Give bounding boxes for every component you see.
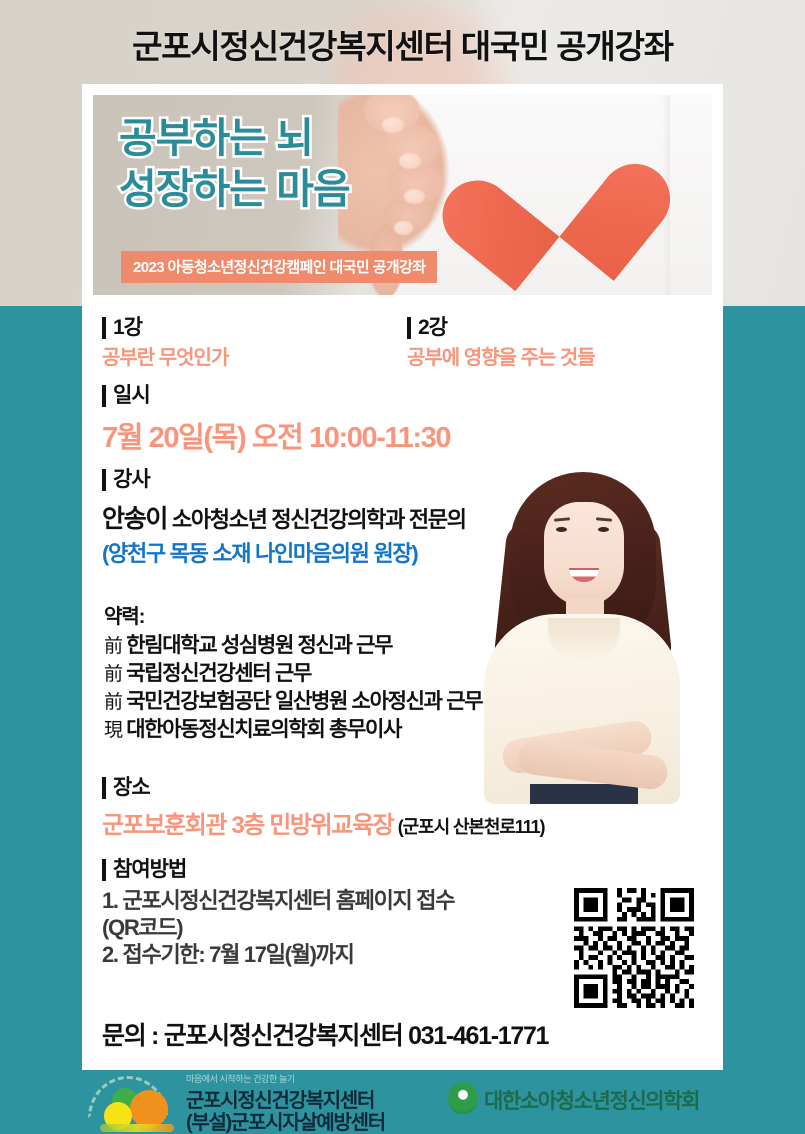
instructor-block: 강사 안송이 소아청소년 정신건강의학과 전문의 (양천구 목동 소재 나인마음…: [102, 468, 522, 568]
hero-nail-1: [382, 117, 404, 133]
join-item: (QR코드): [102, 915, 582, 942]
career-item: 前 한림대학교 성심병원 정신과 근무: [104, 632, 524, 660]
career-prefix: 前: [104, 664, 122, 685]
instructor-name-row: 안송이 소아청소년 정신건강의학과 전문의: [102, 499, 522, 535]
lecture-1: 1강 공부란 무엇인가: [102, 316, 407, 370]
hero-ribbon: 2023 아동청소년정신건강캠페인 대국민 공개강좌: [121, 251, 437, 283]
kacap-logo-icon: [448, 1082, 478, 1114]
date-value: 7월 20일(목) 오전 10:00-11:30: [102, 414, 450, 456]
join-item: 1. 군포시정신건강복지센터 홈페이지 접수: [102, 888, 582, 915]
logo-kacap: 대한소아청소년정신의학회: [448, 1082, 748, 1122]
career-item: 前 국립정신건강센터 근무: [104, 660, 524, 688]
hero-headline: 공부하는 뇌 성장하는 마음: [119, 113, 350, 215]
career-text: 국립정신건강센터 근무: [126, 662, 311, 685]
career-block: 약력: 前 한림대학교 성심병원 정신과 근무 前 국립정신건강센터 근무 前 …: [104, 600, 524, 745]
logo-right-name: 대한소아청소년정신의학회: [484, 1085, 699, 1115]
career-item: 現 대한아동정신치료의학회 총무이사: [104, 716, 524, 744]
lecture-1-label: 1강: [102, 316, 407, 340]
hero-headline-line2: 성장하는 마음: [119, 164, 350, 215]
career-prefix: 前: [104, 692, 122, 713]
hero-nail-4: [394, 221, 413, 235]
footer: 마음에서 시작하는 건강한 늘기 군포시정신건강복지센터 (부설)군포시자살예방…: [0, 1070, 805, 1134]
qr-code-icon: [574, 888, 694, 1008]
logo-gunpo-center: 마음에서 시작하는 건강한 늘기 군포시정신건강복지센터 (부설)군포시자살예방…: [82, 1072, 412, 1130]
hero-nail-2: [399, 153, 421, 169]
career-text: 한림대학교 성심병원 정신과 근무: [126, 634, 392, 657]
hero-banner: 공부하는 뇌 성장하는 마음 2023 아동청소년정신건강캠페인 대국민 공개강…: [93, 95, 712, 295]
career-list: 前 한림대학교 성심병원 정신과 근무 前 국립정신건강센터 근무 前 국민건강…: [104, 632, 524, 745]
instructor-label: 강사: [102, 468, 522, 492]
heart-shape-icon: [478, 118, 632, 272]
career-item: 前 국민건강보험공단 일산병원 소아정신과 근무: [104, 688, 524, 716]
date-label: 일시: [102, 384, 450, 408]
join-label: 참여방법: [102, 858, 582, 882]
career-text: 국민건강보험공단 일산병원 소아정신과 근무: [126, 690, 482, 713]
logo-left-line2: (부설)군포시자살예방센터: [186, 1106, 385, 1134]
contact-line: 문의 : 군포시정신건강복지센터 031-461-1771: [102, 1016, 548, 1052]
instructor-role: 소아청소년 정신건강의학과 전문의: [172, 507, 466, 532]
career-prefix: 前: [104, 636, 122, 657]
place-block: 장소 군포보훈회관 3층 민방위교육장 (군포시 산본천로111): [102, 776, 712, 840]
lecture-2: 2강 공부에 영향을 주는 것들: [407, 316, 712, 370]
place-venue: 군포보훈회관 3층 민방위교육장: [102, 812, 393, 839]
career-text: 대한아동정신치료의학회 총무이사: [126, 718, 401, 741]
career-prefix: 現: [104, 720, 122, 741]
join-list: 1. 군포시정신건강복지센터 홈페이지 접수 (QR코드) 2. 접수기한: 7…: [102, 888, 582, 968]
instructor-affiliation: (양천구 목동 소재 나인마음의원 원장): [102, 536, 522, 568]
hero-nail-3: [404, 189, 425, 204]
lectures-row: 1강 공부란 무엇인가 2강 공부에 영향을 주는 것들: [102, 316, 712, 370]
lecture-2-label: 2강: [407, 316, 712, 340]
lecture-2-title: 공부에 영향을 주는 것들: [407, 341, 712, 370]
content-card: 1강 공부란 무엇인가 2강 공부에 영향을 주는 것들 일시 7월 20일(목…: [82, 306, 723, 1070]
date-block: 일시 7월 20일(목) 오전 10:00-11:30: [102, 384, 450, 456]
place-address: (군포시 산본천로111): [398, 817, 545, 837]
lecture-1-title: 공부란 무엇인가: [102, 341, 407, 370]
career-label: 약력:: [104, 600, 524, 629]
page-title: 군포시정신건강복지센터 대국민 공개강좌: [0, 20, 805, 68]
join-item: 2. 접수기한: 7월 17일(월)까지: [102, 942, 582, 969]
instructor-name: 안송이: [102, 505, 167, 533]
qr-code[interactable]: [574, 888, 694, 1008]
place-value-row: 군포보훈회관 3층 민방위교육장 (군포시 산본천로111): [102, 805, 712, 840]
place-label: 장소: [102, 776, 712, 800]
join-block: 참여방법 1. 군포시정신건강복지센터 홈페이지 접수 (QR코드) 2. 접수…: [102, 858, 582, 969]
gunpo-logo-icon: [82, 1076, 178, 1126]
hero-headline-line1: 공부하는 뇌: [119, 115, 313, 161]
poster-root: 군포시정신건강복지센터 대국민 공개강좌 공부하는 뇌 성장하는 마음 2023…: [0, 0, 805, 1134]
